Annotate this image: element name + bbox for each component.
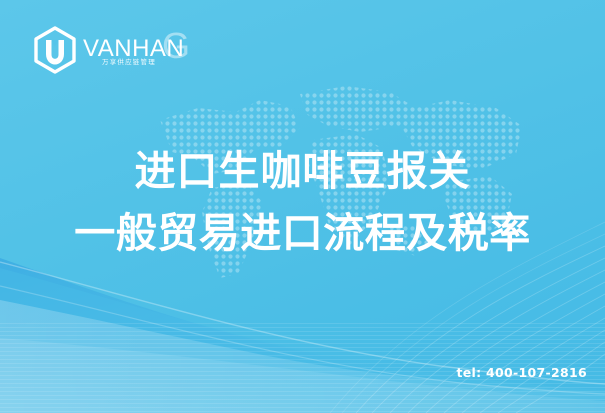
brand-wordmark: G VANHAN 万享供应链管理 — [83, 26, 195, 74]
contact-telephone: tel: 400-107-2816 — [456, 365, 587, 380]
headline-block: 进口生咖啡豆报关 一般贸易进口流程及税率 — [0, 140, 605, 264]
headline-line-2: 一般贸易进口流程及税率 — [0, 202, 605, 264]
vanhang-hexagon-logo-icon — [33, 26, 77, 74]
logo-subtitle-text: 万享供应链管理 — [102, 56, 156, 66]
brand-logo[interactable]: G VANHAN 万享供应链管理 — [33, 26, 195, 74]
headline-line-1: 进口生咖啡豆报关 — [0, 140, 605, 202]
promo-banner: G VANHAN 万享供应链管理 进口生咖啡豆报关 一般贸易进口流程及税率 te… — [0, 0, 605, 413]
